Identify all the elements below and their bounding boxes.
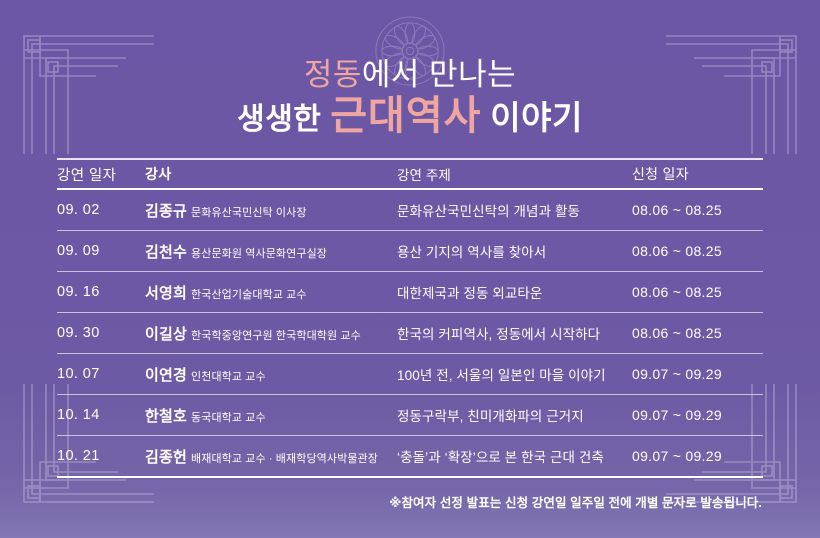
speaker-name: 서영희	[145, 285, 187, 302]
cell-speaker: 이길상한국학중앙연구원 한국학대학원 교수	[145, 323, 397, 344]
speaker-name: 김종규	[145, 203, 187, 220]
title-line-2: 생생한 근대역사 이야기	[0, 94, 820, 142]
speaker-affiliation: 인천대학교 교수	[191, 371, 266, 383]
cell-topic: 대한제국과 정동 외교타운	[397, 282, 632, 302]
column-header-date: 강연 일자	[57, 164, 145, 185]
event-poster: 정동에서 만나는 생생한 근대역사 이야기 강연 일자 강사 강연 주제 신청 …	[0, 0, 820, 538]
cell-date: 10. 21	[57, 448, 145, 464]
cell-speaker: 서영희한국산업기술대학교 교수	[145, 282, 397, 303]
speaker-affiliation: 한국산업기술대학교 교수	[191, 289, 307, 301]
cell-speaker: 김천수용산문화원 역사문화연구실장	[145, 241, 397, 262]
table-row: 10. 07 이연경인천대학교 교수 100년 전, 서울의 일본인 마을 이야…	[57, 354, 763, 394]
cell-speaker: 김종규문화유산국민신탁 이사장	[145, 200, 397, 221]
column-header-apply: 신청 일자	[632, 164, 763, 184]
table-bottom-rule	[57, 476, 763, 478]
cell-apply-period: 09.07 ~ 09.29	[632, 448, 763, 464]
cell-speaker: 김종헌배재대학교 교수 · 배재학당역사박물관장	[145, 446, 397, 467]
cell-apply-period: 08.06 ~ 08.25	[632, 202, 763, 218]
cell-topic: 문화유산국민신탁의 개념과 활동	[397, 200, 632, 220]
speaker-name: 이연경	[145, 367, 187, 384]
cell-date: 09. 16	[57, 284, 145, 300]
cell-apply-period: 08.06 ~ 08.25	[632, 243, 763, 259]
table-row: 09. 30 이길상한국학중앙연구원 한국학대학원 교수 한국의 커피역사, 정…	[57, 313, 763, 353]
cell-date: 10. 07	[57, 366, 145, 382]
cell-date: 09. 09	[57, 243, 145, 259]
title-part-story: 이야기	[490, 99, 583, 136]
cell-topic: ‘충돌’과 ‘확장’으로 본 한국 근대 건축	[397, 446, 632, 466]
cell-apply-period: 09.07 ~ 09.29	[632, 366, 763, 382]
speaker-affiliation: 동국대학교 교수	[191, 412, 266, 424]
table-row: 09. 16 서영희한국산업기술대학교 교수 대한제국과 정동 외교타운 08.…	[57, 272, 763, 312]
title-highlight-modern-history: 근대역사	[330, 94, 481, 138]
cell-apply-period: 09.07 ~ 09.29	[632, 407, 763, 423]
title-line-1-rest: 에서 만나는	[362, 57, 516, 92]
table-row: 10. 14 한철호동국대학교 교수 정동구락부, 친미개화파의 근거지 09.…	[57, 395, 763, 435]
cell-date: 09. 02	[57, 202, 145, 218]
cell-date: 09. 30	[57, 325, 145, 341]
cell-topic: 한국의 커피역사, 정동에서 시작하다	[397, 323, 632, 343]
column-header-speaker: 강사	[145, 164, 397, 184]
cell-date: 10. 14	[57, 407, 145, 423]
cell-topic: 정동구락부, 친미개화파의 근거지	[397, 405, 632, 425]
poster-title: 정동에서 만나는 생생한 근대역사 이야기	[0, 56, 820, 142]
cell-topic: 100년 전, 서울의 일본인 마을 이야기	[397, 364, 632, 384]
speaker-name: 김천수	[145, 244, 187, 261]
cell-topic: 용산 기지의 역사를 찾아서	[397, 241, 632, 261]
title-highlight-jeongdong: 정동	[304, 57, 362, 92]
speaker-affiliation: 문화유산국민신탁 이사장	[191, 207, 307, 219]
speaker-name: 이길상	[145, 326, 187, 343]
speaker-affiliation: 배재대학교 교수 · 배재학당역사박물관장	[191, 453, 378, 465]
title-part-saengsaenghan: 생생한	[237, 103, 321, 136]
cell-speaker: 한철호동국대학교 교수	[145, 405, 397, 426]
footnote-notice: ※참여자 선정 발표는 신청 강연일 일주일 전에 개별 문자로 발송됩니다.	[389, 492, 762, 511]
speaker-name: 김종헌	[145, 449, 187, 466]
cell-apply-period: 08.06 ~ 08.25	[632, 284, 763, 300]
table-row: 10. 21 김종헌배재대학교 교수 · 배재학당역사박물관장 ‘충돌’과 ‘확…	[57, 436, 763, 476]
speaker-name: 한철호	[145, 408, 187, 425]
cell-apply-period: 08.06 ~ 08.25	[632, 325, 763, 341]
lecture-schedule-table: 강연 일자 강사 강연 주제 신청 일자 09. 02 김종규문화유산국민신탁 …	[57, 158, 763, 478]
title-line-1: 정동에서 만나는	[0, 56, 820, 94]
table-header-row: 강연 일자 강사 강연 주제 신청 일자	[57, 160, 763, 188]
speaker-affiliation: 용산문화원 역사문화연구실장	[191, 248, 327, 260]
table-row: 09. 02 김종규문화유산국민신탁 이사장 문화유산국민신탁의 개념과 활동 …	[57, 190, 763, 230]
speaker-affiliation: 한국학중앙연구원 한국학대학원 교수	[191, 330, 361, 342]
column-header-topic: 강연 주제	[397, 164, 632, 184]
cell-speaker: 이연경인천대학교 교수	[145, 364, 397, 385]
table-row: 09. 09 김천수용산문화원 역사문화연구실장 용산 기지의 역사를 찾아서 …	[57, 231, 763, 271]
